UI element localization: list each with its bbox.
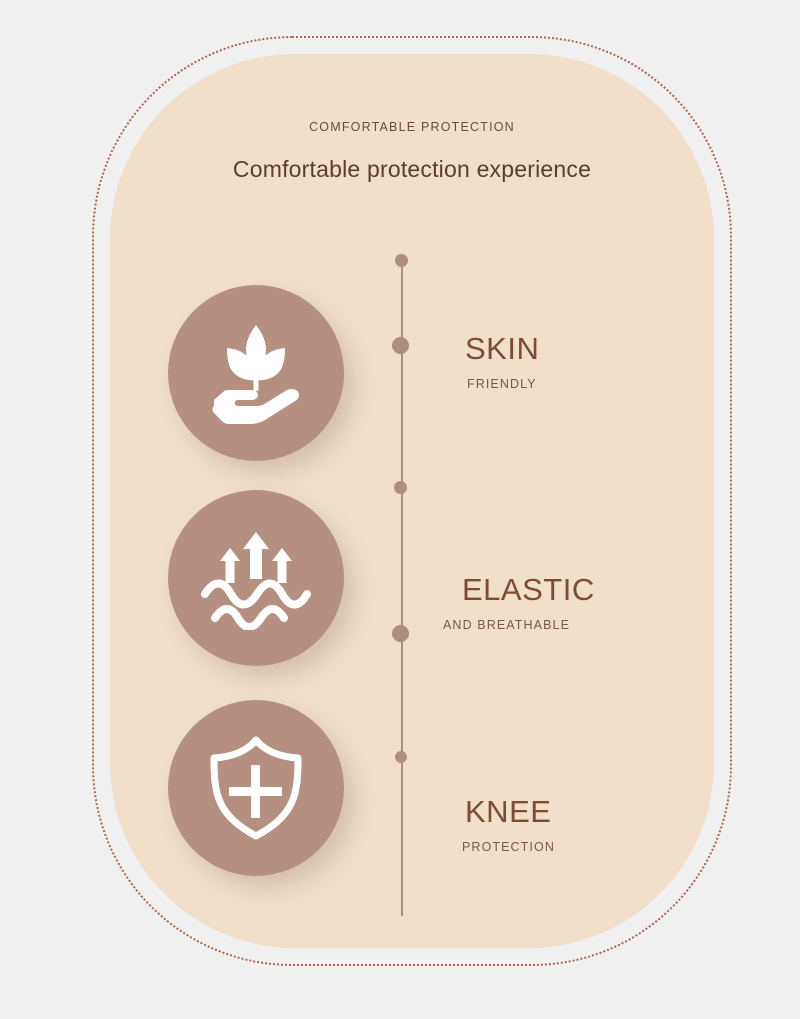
feature-title: KNEE xyxy=(465,796,690,827)
feature-item-elastic-breathable: ELASTIC AND BREATHABLE xyxy=(110,490,714,670)
feature-labels: KNEE PROTECTION xyxy=(440,796,690,854)
feature-item-knee-protection: KNEE PROTECTION xyxy=(110,700,714,880)
timeline-dot-1 xyxy=(395,254,408,267)
feature-subtitle: PROTECTION xyxy=(462,840,690,854)
hand-holding-plant-icon xyxy=(168,285,344,461)
feature-subtitle: AND BREATHABLE xyxy=(443,618,690,632)
card-header: COMFORTABLE PROTECTION Comfortable prote… xyxy=(110,54,714,183)
feature-labels: ELASTIC AND BREATHABLE xyxy=(440,574,690,632)
feature-title: SKIN xyxy=(465,333,690,364)
feature-title: ELASTIC xyxy=(462,574,690,605)
feature-card: COMFORTABLE PROTECTION Comfortable prote… xyxy=(110,54,714,948)
eyebrow-text: COMFORTABLE PROTECTION xyxy=(110,120,714,134)
page-title: Comfortable protection experience xyxy=(110,156,714,183)
feature-item-skin-friendly: SKIN FRIENDLY xyxy=(110,285,714,465)
feature-labels: SKIN FRIENDLY xyxy=(440,333,690,391)
feature-subtitle: FRIENDLY xyxy=(467,377,690,391)
breathable-airflow-waves-icon xyxy=(168,490,344,666)
shield-plus-icon xyxy=(168,700,344,876)
